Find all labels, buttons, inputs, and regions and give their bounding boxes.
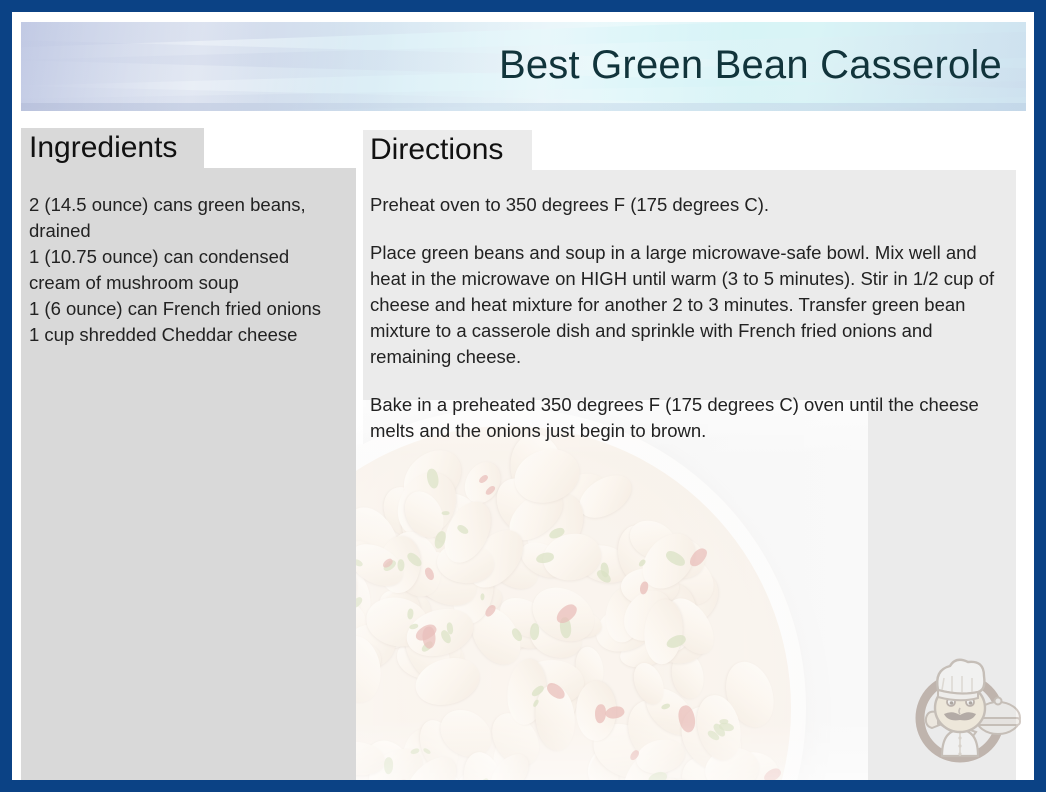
ingredients-heading: Ingredients — [29, 133, 177, 163]
list-item: 1 cup shredded Cheddar cheese — [29, 322, 344, 348]
frame-border-left — [0, 0, 12, 792]
banner-bottom-shade — [21, 103, 1026, 111]
ingredients-tab: Ingredients — [21, 128, 204, 168]
direction-step: Bake in a preheated 350 degrees F (175 d… — [370, 392, 1002, 444]
direction-step: Place green beans and soup in a large mi… — [370, 240, 1002, 370]
frame-border-right — [1034, 0, 1046, 792]
recipe-card: Best Green Bean Casserole Ingredients 2 … — [0, 0, 1046, 792]
directions-heading: Directions — [370, 135, 503, 165]
directions-tab: Directions — [363, 130, 532, 170]
frame-border-bottom — [0, 780, 1046, 792]
title-banner: Best Green Bean Casserole — [21, 22, 1026, 111]
frame-border-top — [0, 0, 1046, 12]
ingredients-panel: 2 (14.5 ounce) cans green beans, drained… — [21, 168, 356, 780]
ingredients-list: 2 (14.5 ounce) cans green beans, drained… — [29, 192, 344, 348]
chef-mascot-icon — [898, 648, 1022, 772]
list-item: 1 (10.75 ounce) can condensed cream of m… — [29, 244, 344, 296]
list-item: 1 (6 ounce) can French fried onions — [29, 296, 344, 322]
direction-step: Preheat oven to 350 degrees F (175 degre… — [370, 192, 1002, 218]
page-title: Best Green Bean Casserole — [499, 43, 1002, 88]
list-item: 2 (14.5 ounce) cans green beans, drained — [29, 192, 344, 244]
chef-logo — [898, 648, 1022, 772]
